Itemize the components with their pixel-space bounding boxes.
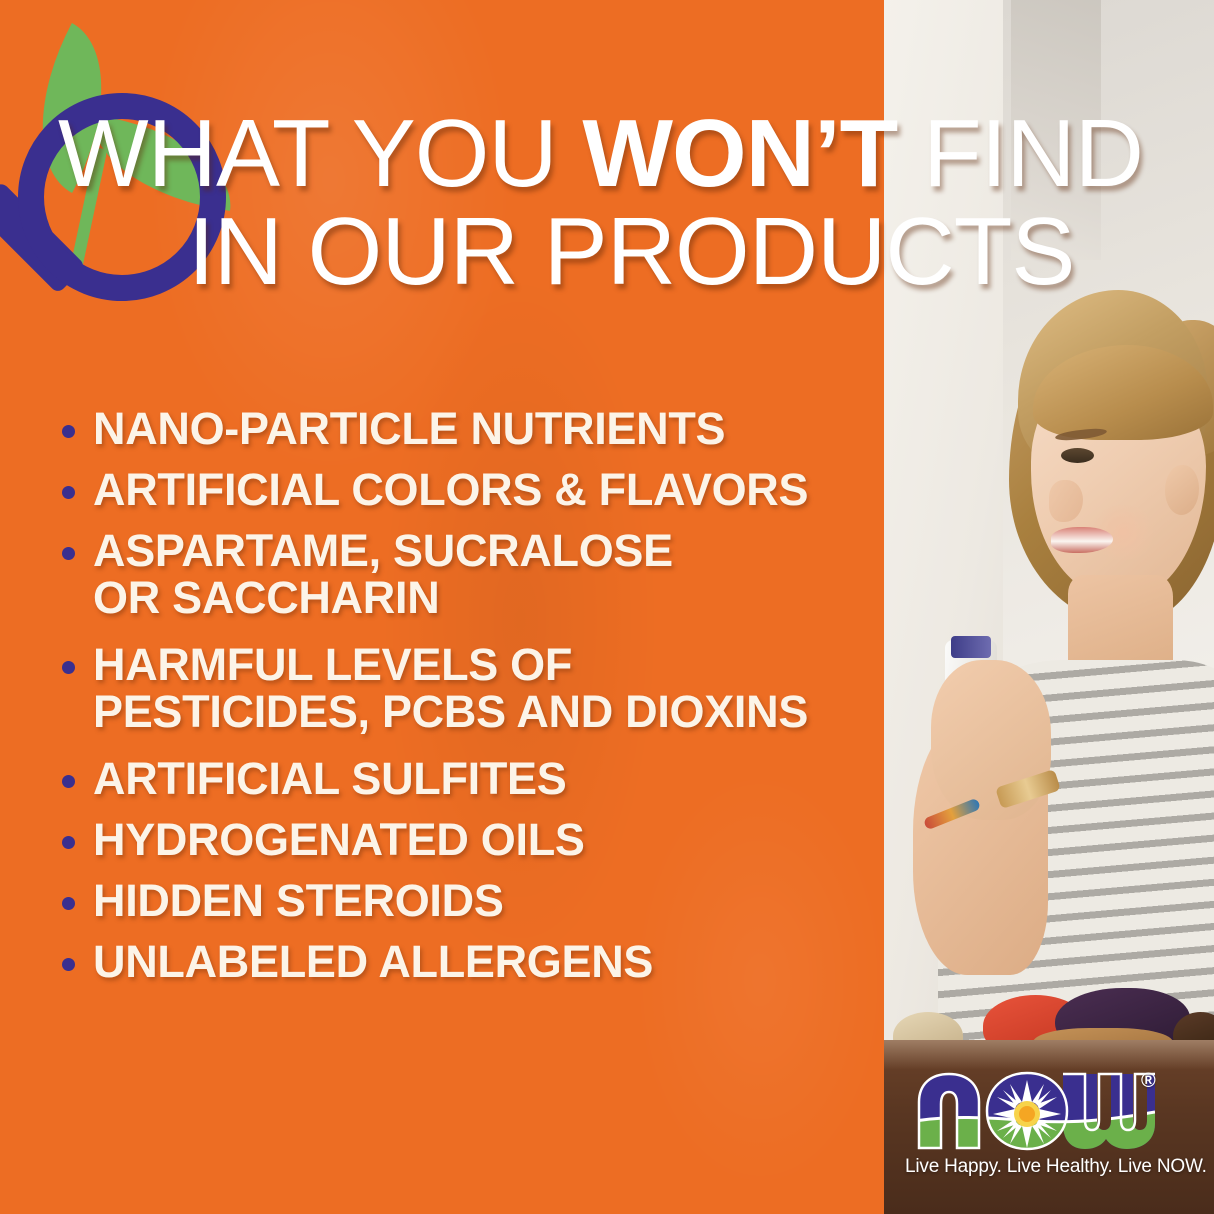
list-item-label: ARTIFICIAL COLORS & FLAVORS <box>93 466 808 513</box>
bullet-dot-icon <box>62 958 75 971</box>
list-item-line: OR SACCHARIN <box>93 574 673 621</box>
list-item: HYDROGENATED OILS <box>62 816 882 863</box>
counter-highlight <box>883 1040 1214 1070</box>
bullet-dot-icon <box>62 486 75 499</box>
list-item: ARTIFICIAL COLORS & FLAVORS <box>62 466 882 513</box>
headline-line-1: WHAT YOU WON’T FIND <box>58 108 1143 200</box>
logo-wordmark: ® <box>905 1068 1155 1154</box>
headline-line1-post: FIND <box>897 100 1143 207</box>
list-item: HIDDEN STEROIDS <box>62 877 882 924</box>
bullet-dot-icon <box>62 547 75 560</box>
bottle-cap <box>951 636 991 658</box>
list-item-line: NANO-PARTICLE NUTRIENTS <box>93 405 725 452</box>
list-item: NANO-PARTICLE NUTRIENTS <box>62 405 882 452</box>
now-logo-svg <box>905 1068 1155 1154</box>
headline-line1-pre: WHAT YOU <box>58 100 582 207</box>
bullet-dot-icon <box>62 836 75 849</box>
list-item-label: HARMFUL LEVELS OFPESTICIDES, PCBS AND DI… <box>93 641 808 735</box>
list-item-label: ARTIFICIAL SULFITES <box>93 755 566 802</box>
headline-emphasis: WON’T <box>582 100 897 207</box>
list-item-label: ASPARTAME, SUCRALOSEOR SACCHARIN <box>93 527 673 621</box>
list-item-label: HYDROGENATED OILS <box>93 816 585 863</box>
bullet-dot-icon <box>62 897 75 910</box>
headline-line-2: IN OUR PRODUCTS <box>188 206 1074 298</box>
eye <box>1061 448 1094 463</box>
promotional-poster: WHAT YOU WON’T FIND IN OUR PRODUCTS NANO… <box>0 0 1214 1214</box>
list-item: UNLABELED ALLERGENS <box>62 938 882 985</box>
registered-trademark-symbol: ® <box>1141 1070 1156 1093</box>
list-item-line: HYDROGENATED OILS <box>93 816 585 863</box>
list-item-label: HIDDEN STEROIDS <box>93 877 504 924</box>
excluded-ingredients-list: NANO-PARTICLE NUTRIENTSARTIFICIAL COLORS… <box>62 405 882 999</box>
list-item-line: UNLABELED ALLERGENS <box>93 938 653 985</box>
bullet-dot-icon <box>62 775 75 788</box>
list-item-line: HIDDEN STEROIDS <box>93 877 504 924</box>
list-item-line: ASPARTAME, SUCRALOSE <box>93 527 673 574</box>
list-item-line: HARMFUL LEVELS OF <box>93 641 808 688</box>
list-item-line: ARTIFICIAL SULFITES <box>93 755 566 802</box>
list-item-line: PESTICIDES, PCBS AND DIOXINS <box>93 688 808 735</box>
list-item-label: UNLABELED ALLERGENS <box>93 938 653 985</box>
now-brand-logo: ® Live Happy. Live Healthy. Live NOW. <box>905 1068 1173 1196</box>
sunburst-icon <box>993 1080 1061 1148</box>
list-item: ASPARTAME, SUCRALOSEOR SACCHARIN <box>62 527 882 621</box>
bullet-dot-icon <box>62 661 75 674</box>
brand-tagline: Live Happy. Live Healthy. Live NOW. <box>905 1156 1155 1178</box>
bullet-dot-icon <box>62 425 75 438</box>
list-item-line: ARTIFICIAL COLORS & FLAVORS <box>93 466 808 513</box>
list-item: HARMFUL LEVELS OFPESTICIDES, PCBS AND DI… <box>62 641 882 735</box>
list-item-label: NANO-PARTICLE NUTRIENTS <box>93 405 725 452</box>
list-item: ARTIFICIAL SULFITES <box>62 755 882 802</box>
